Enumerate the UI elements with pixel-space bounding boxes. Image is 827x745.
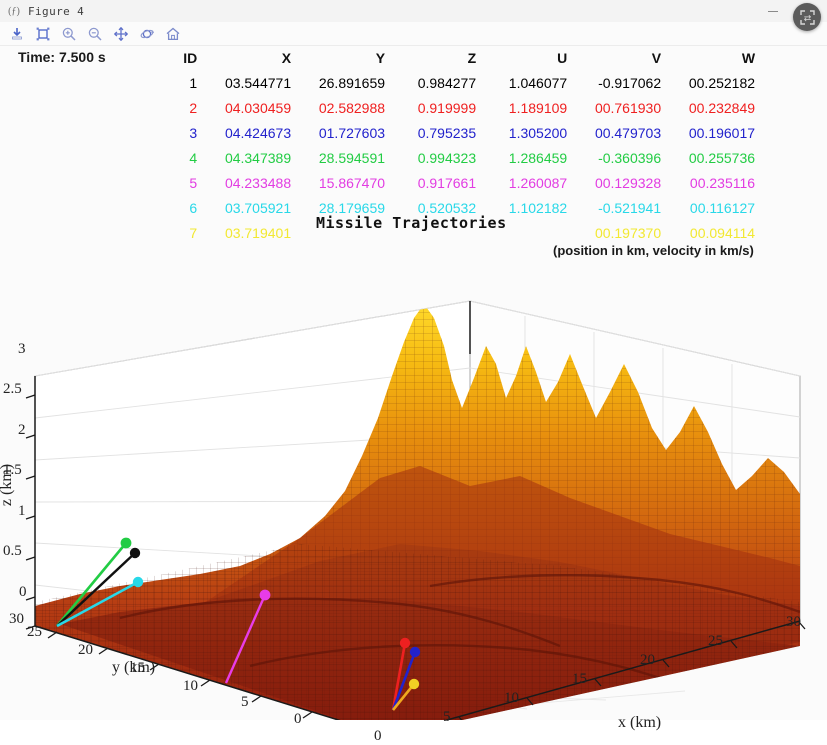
x-axis-label: x (km) xyxy=(618,714,661,732)
window-title: Figure 4 xyxy=(28,5,84,18)
x-tick-20: 20 xyxy=(640,652,655,669)
minimize-button[interactable] xyxy=(755,0,791,22)
trajectory-head-6 xyxy=(133,577,143,587)
figure-window: (ƒ) Figure 4 ⇄ xyxy=(0,0,827,720)
z-tick-3: 3 xyxy=(18,341,26,358)
trajectory-head-3 xyxy=(410,647,420,657)
z-tick-2: 2 xyxy=(18,422,26,439)
toolbar-configure-subplots-button[interactable] xyxy=(30,23,56,45)
function-icon: (ƒ) xyxy=(7,4,21,18)
y-tick-5: 5 xyxy=(241,694,249,711)
x-tick-30: 30 xyxy=(786,614,801,631)
figure-toolbar xyxy=(0,22,827,46)
zoom-in-icon xyxy=(61,26,77,42)
y-tick-30: 30 xyxy=(9,611,24,628)
z-tick-1: 1 xyxy=(18,503,26,520)
trajectory-head-2 xyxy=(400,638,410,648)
y-tick-25: 25 xyxy=(27,624,42,641)
configure-subplots-icon xyxy=(35,26,51,42)
y-tick-20: 20 xyxy=(78,642,93,659)
minimize-icon xyxy=(768,11,778,12)
plot-title: Missile Trajectories xyxy=(316,214,507,232)
home-icon xyxy=(165,26,181,42)
toolbar-rotate-button[interactable] xyxy=(134,23,160,45)
x-tick-5: 5 xyxy=(443,709,451,726)
z-tick-0: 0 xyxy=(19,584,27,601)
svg-text:⇄: ⇄ xyxy=(803,14,811,24)
toolbar-save-button[interactable] xyxy=(4,23,30,45)
title-bar: (ƒ) Figure 4 ⇄ xyxy=(0,0,827,23)
x-tick-0: 0 xyxy=(374,728,382,745)
trajectory-head-1 xyxy=(130,548,140,558)
pan-icon xyxy=(113,26,129,42)
z-tick-0p5: 0.5 xyxy=(3,543,22,560)
rotate-icon xyxy=(139,26,155,42)
surface-plot[interactable]: Missile Trajectories (position in km, ve… xyxy=(0,46,827,720)
z-tick-1p5: 1.5 xyxy=(3,462,22,479)
x-tick-10: 10 xyxy=(504,690,519,707)
fullscreen-toggle-button[interactable]: ⇄ xyxy=(793,3,821,31)
fullscreen-toggle-icon: ⇄ xyxy=(799,9,816,26)
plot-svg xyxy=(0,46,827,720)
z-tick-2p5: 2.5 xyxy=(3,381,22,398)
zoom-out-icon xyxy=(87,26,103,42)
toolbar-zoom-in-button[interactable] xyxy=(56,23,82,45)
plot-subtitle: (position in km, velocity in km/s) xyxy=(553,243,754,258)
y-tick-10: 10 xyxy=(183,678,198,695)
trajectory-head-4 xyxy=(121,538,132,549)
x-tick-15: 15 xyxy=(572,671,587,688)
toolbar-pan-button[interactable] xyxy=(108,23,134,45)
x-tick-25: 25 xyxy=(708,633,723,650)
y-tick-15: 15 xyxy=(130,660,145,677)
save-icon xyxy=(9,26,25,42)
trajectory-head-7 xyxy=(409,679,419,689)
toolbar-home-button[interactable] xyxy=(160,23,186,45)
toolbar-zoom-out-button[interactable] xyxy=(82,23,108,45)
figure-canvas[interactable]: Time: 7.500 s ID X Y Z U V W xyxy=(0,46,827,720)
trajectory-head-5 xyxy=(260,590,271,601)
